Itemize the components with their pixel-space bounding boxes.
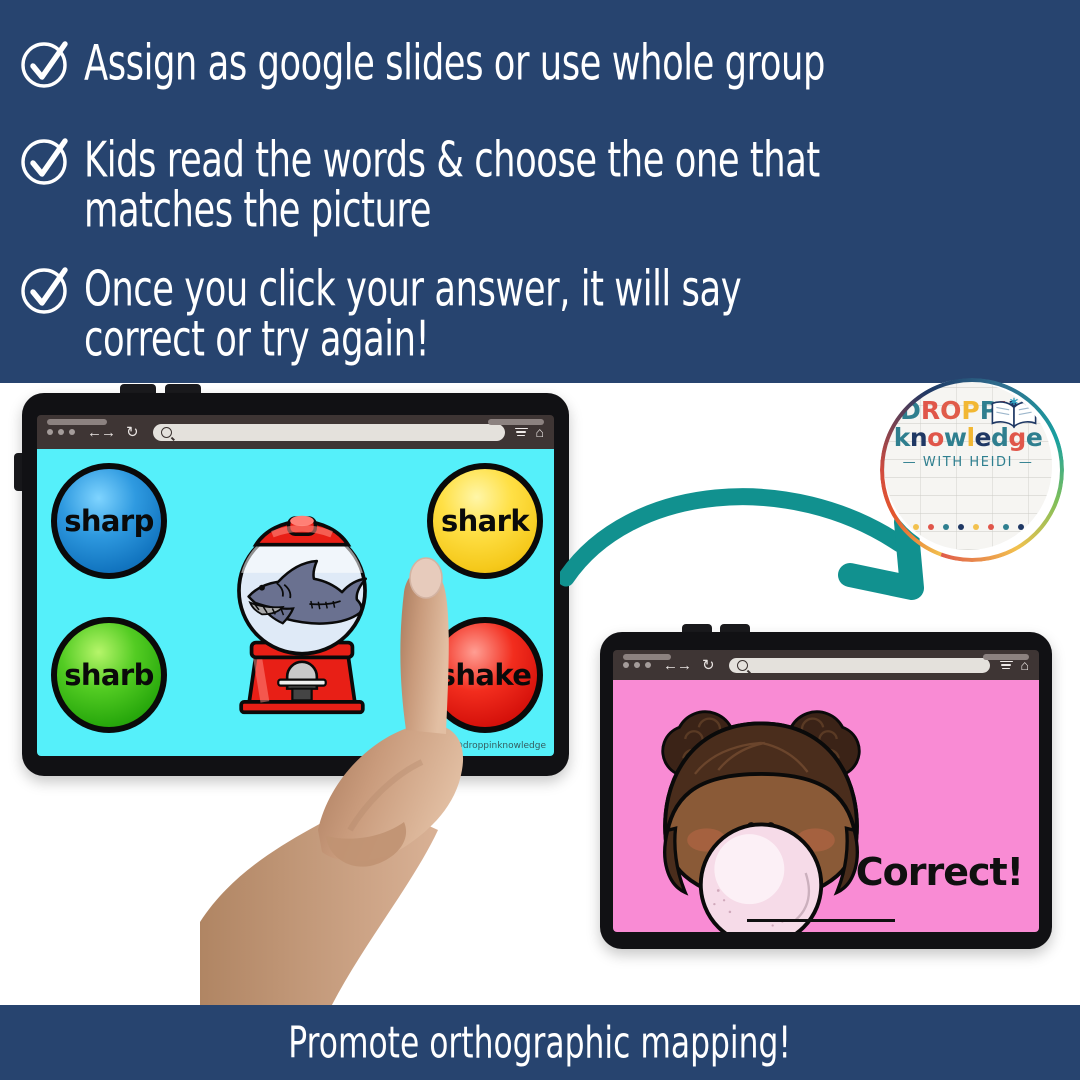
- header-banner: Assign as google slides or use whole gro…: [0, 0, 1080, 383]
- logo-letter: k: [894, 423, 910, 452]
- footer-banner: Promote orthographic mapping!: [0, 1005, 1080, 1080]
- logo-letter: o: [927, 423, 944, 452]
- browser-tab-strip[interactable]: [623, 654, 671, 660]
- browser-toolbar: ←→ ↻ ⌂: [613, 650, 1039, 680]
- logo-dot-row: [884, 524, 1052, 536]
- reload-icon[interactable]: ↻: [702, 658, 715, 673]
- hand-pointing-icon: [200, 530, 530, 1030]
- logo-dot: [1018, 524, 1024, 530]
- logo-dot: [973, 524, 979, 530]
- answer-label: sharp: [64, 504, 154, 539]
- tablet-screen: ←→ ↻ ⌂: [613, 650, 1039, 932]
- logo-dot: [943, 524, 949, 530]
- check-circle-icon: [18, 262, 74, 318]
- logo-line-3: — WITH HEIDI —: [903, 455, 1034, 470]
- search-icon: [737, 660, 748, 671]
- logo-dot: [988, 524, 994, 530]
- menu-icon[interactable]: [515, 428, 528, 437]
- bullet-text-1: Assign as google slides or use whole gro…: [84, 36, 825, 88]
- logo-letter: w: [944, 423, 967, 452]
- address-bar[interactable]: [729, 658, 990, 673]
- open-book-icon: [990, 396, 1038, 430]
- logo-letter: O: [940, 398, 961, 423]
- window-dots-icon[interactable]: [47, 429, 75, 435]
- logo-dot: [958, 524, 964, 530]
- logo-letter: R: [921, 398, 940, 423]
- bullet-text-2: Kids read the words & choose the one tha…: [84, 133, 820, 235]
- brand-logo: DROPPIN' knowledge — WITH HEIDI —: [884, 382, 1052, 550]
- girl-blowing-bubble-gum-illustration: [625, 680, 897, 932]
- browser-toolbar: ←→ ↻ ⌂: [37, 415, 554, 449]
- check-circle-icon: [18, 133, 74, 189]
- logo-dot: [913, 524, 919, 530]
- answer-button-sharp[interactable]: sharp: [51, 463, 167, 579]
- home-icon[interactable]: ⌂: [536, 425, 544, 439]
- answer-label: sharb: [64, 658, 154, 693]
- menu-icon[interactable]: [1000, 661, 1013, 670]
- bullet-item-1: Assign as google slides or use whole gro…: [18, 36, 881, 92]
- browser-tab-strip-right[interactable]: [983, 654, 1029, 660]
- answer-button-sharb[interactable]: sharb: [51, 617, 167, 733]
- feedback-slide: Correct!: [613, 680, 1039, 932]
- window-dots-icon[interactable]: [623, 662, 651, 668]
- tablet-device-feedback: ←→ ↻ ⌂: [600, 632, 1052, 949]
- browser-tab-strip-right[interactable]: [488, 419, 544, 425]
- bullet-text-3: Once you click your answer, it will say …: [84, 262, 741, 364]
- address-bar[interactable]: [153, 424, 505, 441]
- check-circle-icon: [18, 36, 74, 92]
- home-icon[interactable]: ⌂: [1021, 658, 1029, 672]
- answer-underline: [747, 919, 895, 922]
- browser-tab-strip[interactable]: [47, 419, 107, 425]
- logo-dot: [1003, 524, 1009, 530]
- logo-letter: l: [966, 423, 974, 452]
- reload-icon[interactable]: ↻: [126, 425, 139, 440]
- logo-letter: e: [975, 423, 991, 452]
- poster-canvas: Assign as google slides or use whole gro…: [0, 0, 1080, 1080]
- search-icon: [161, 427, 172, 438]
- bullet-item-2: Kids read the words & choose the one tha…: [18, 133, 875, 213]
- logo-letter: P: [961, 398, 979, 423]
- back-forward-arrows-icon[interactable]: ←→: [87, 425, 115, 440]
- footer-text: Promote orthographic mapping!: [289, 1017, 792, 1068]
- bullet-item-3: Once you click your answer, it will say …: [18, 262, 791, 342]
- feedback-text: Correct!: [856, 850, 1023, 894]
- logo-letter: n: [910, 423, 927, 452]
- logo-dot: [928, 524, 934, 530]
- logo-letter: D: [900, 398, 921, 423]
